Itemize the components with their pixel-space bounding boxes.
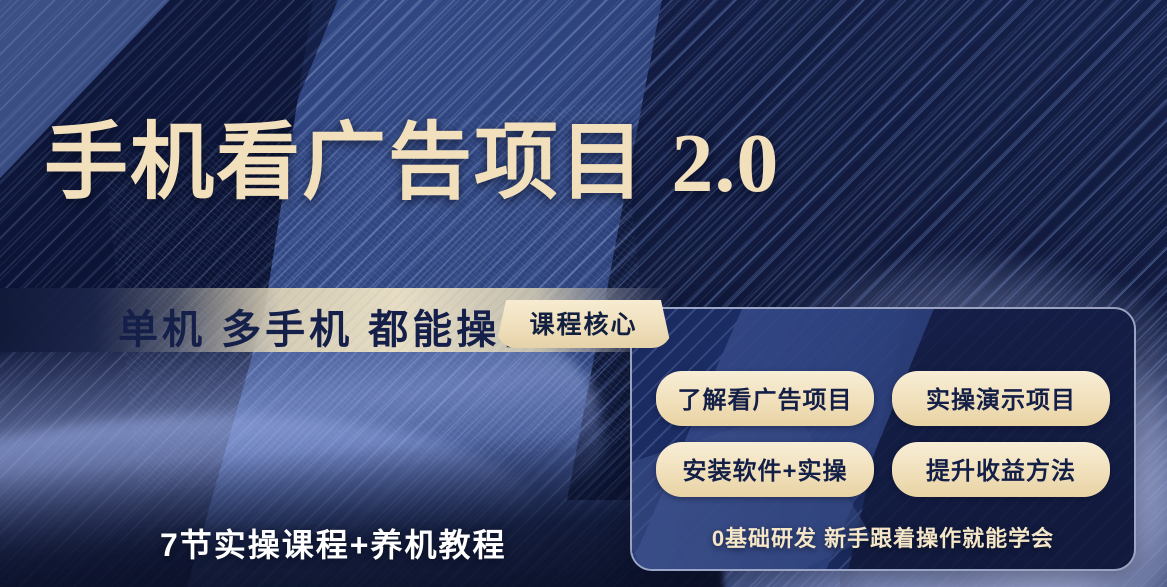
poster-title-main: 手机看广告项目	[44, 115, 646, 209]
poster-title: 手机看广告项目 2.0	[44, 120, 779, 206]
poster-subtitle: 单机 多手机 都能操作	[118, 297, 544, 355]
pill-boost-income[interactable]: 提升收益方法	[892, 442, 1110, 497]
pill-install-software[interactable]: 安装软件+实操	[656, 442, 874, 497]
course-core-badge: 课程核心	[495, 300, 671, 348]
card-pill-rows: 了解看广告项目 实操演示项目 安装软件+实操 提升收益方法	[632, 371, 1134, 497]
course-core-card: 了解看广告项目 实操演示项目 安装软件+实操 提升收益方法 0基础研发 新手跟着…	[630, 307, 1136, 571]
promo-poster: 手机看广告项目 2.0 单机 多手机 都能操作 7节实操课程+养机教程 了解看广…	[0, 0, 1167, 587]
pill-hands-on-demo[interactable]: 实操演示项目	[892, 371, 1110, 426]
card-footer-note: 0基础研发 新手跟着操作就能学会	[632, 521, 1134, 553]
pill-understand-ad-project[interactable]: 了解看广告项目	[656, 371, 874, 426]
poster-title-version: 2.0	[671, 117, 779, 210]
card-pill-row: 安装软件+实操 提升收益方法	[656, 442, 1110, 497]
course-count-line: 7节实操课程+养机教程	[160, 520, 507, 566]
card-pill-row: 了解看广告项目 实操演示项目	[656, 371, 1110, 426]
